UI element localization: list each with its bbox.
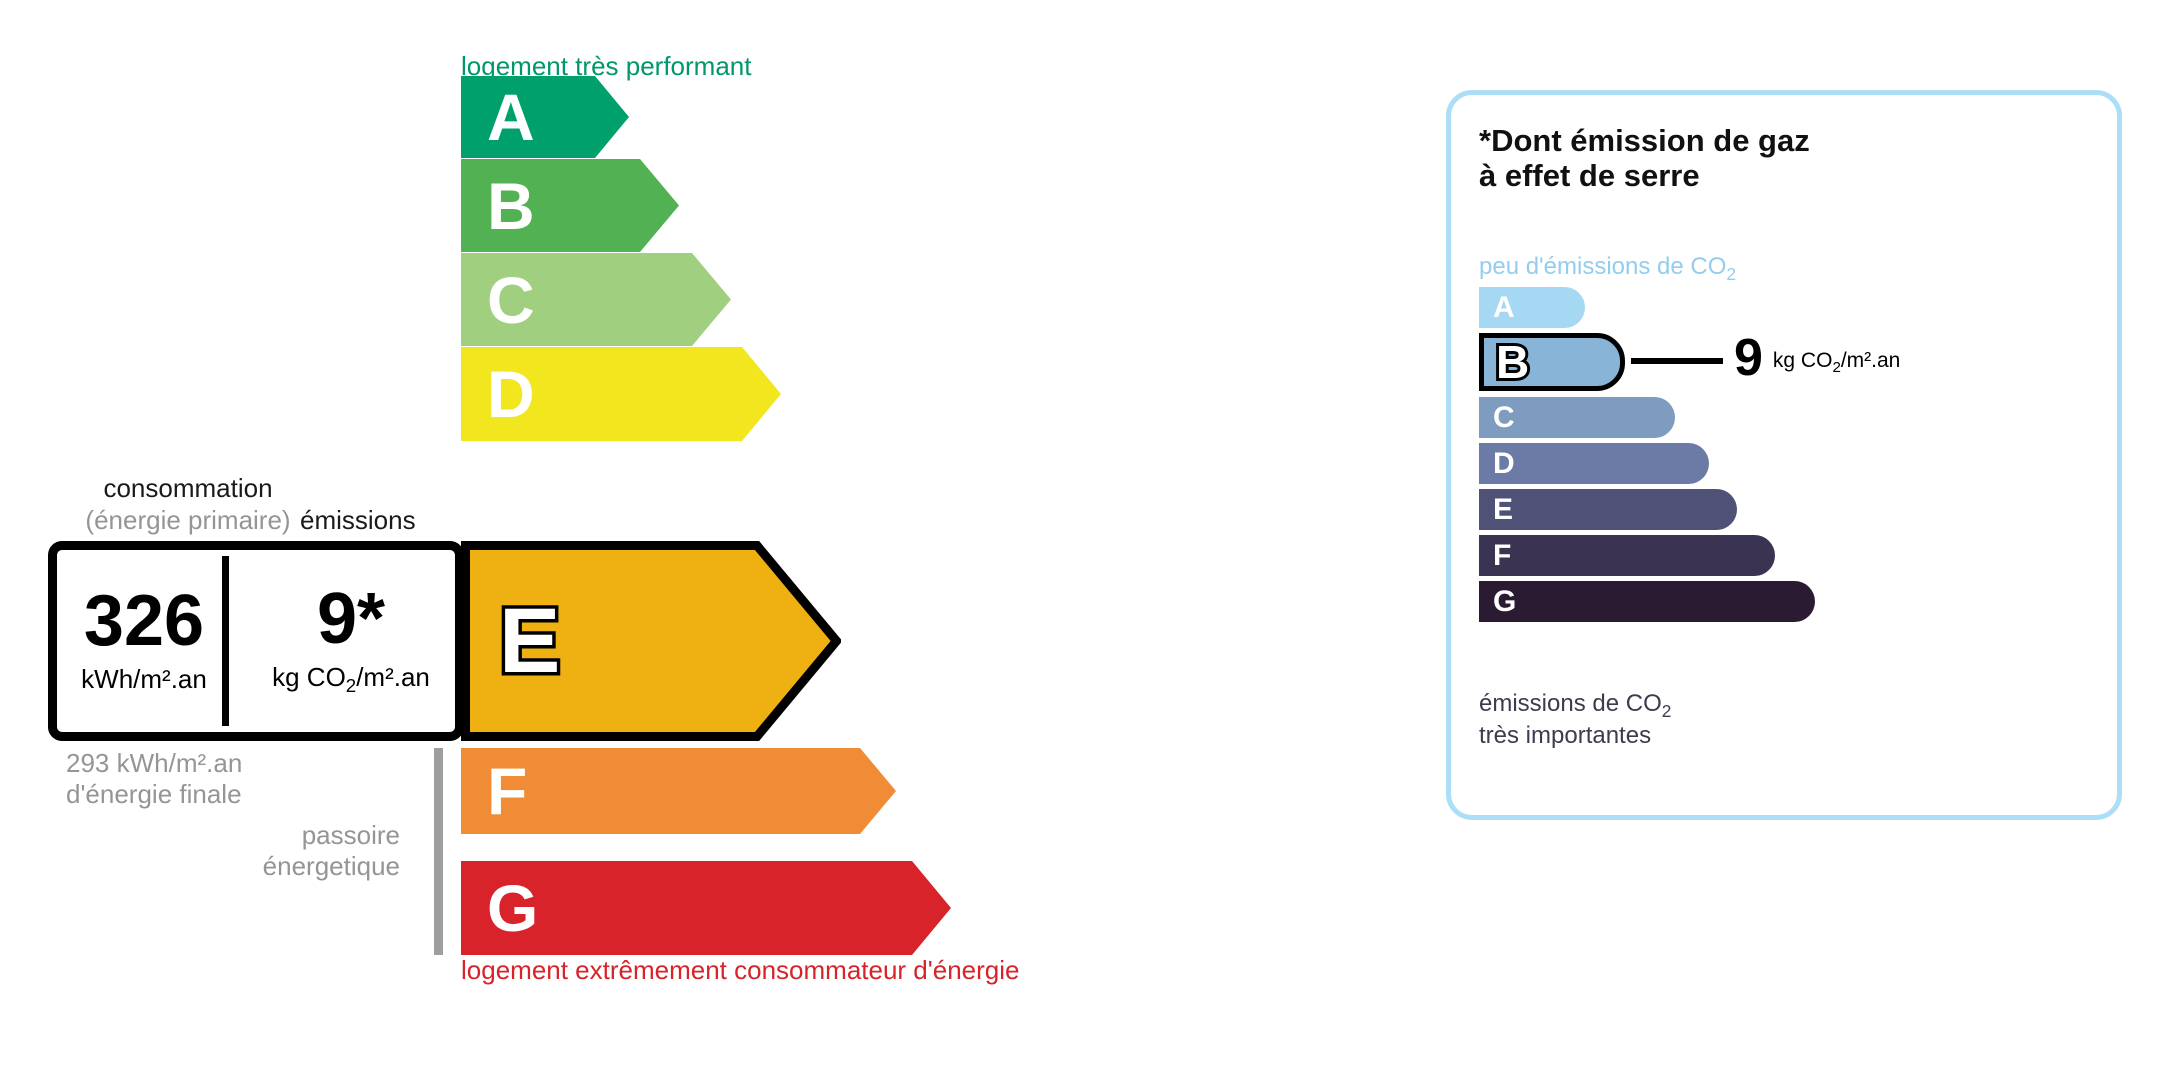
co2-bar-e: E (1479, 489, 1737, 530)
co2-bar-letter-a: A (1493, 293, 1515, 323)
energy-band-d: D (461, 347, 781, 441)
energy-band-b: B (461, 159, 679, 252)
co2-callout-unit: kg CO2/m².an (1773, 349, 1900, 376)
energy-band-arrow-g (461, 861, 951, 955)
energy-band-c: C (461, 253, 731, 346)
label-consommation: consommation (63, 473, 313, 504)
energy-band-arrow-f (461, 748, 896, 834)
co2-bar-letter-g: G (1493, 587, 1516, 617)
chart-bottom-caption: logement extrêmement consommateur d'éner… (461, 955, 1019, 986)
energy-band-arrow-b (461, 159, 679, 252)
co2-value-callout: 9 kg CO2/m².an (1734, 335, 1900, 382)
co2-value-unit: kg CO2/m².an (272, 662, 430, 697)
co2-bar-letter-e: E (1493, 495, 1513, 525)
passoire-divider-bar (434, 748, 443, 955)
energy-performance-chart: logement très performant ABCDEFG consomm… (0, 0, 1330, 1079)
co2-value-cell: 9* kg CO2/m².an (238, 550, 464, 732)
co2-bar-letter-d: D (1493, 449, 1515, 479)
energy-band-arrow-e (461, 541, 841, 741)
energy-band-arrow-c (461, 253, 731, 346)
value-box-divider (222, 556, 229, 726)
label-energie-finale: 293 kWh/m².an d'énergie finale (66, 748, 242, 809)
energy-band-f: F (461, 748, 896, 834)
co2-panel-title: *Dont émission de gaz à effet de serre (1479, 123, 1810, 194)
energy-band-e: E (461, 541, 841, 741)
co2-leader-line (1631, 358, 1723, 364)
label-energie-primaire: (énergie primaire) (48, 505, 328, 536)
energy-value-number: 326 (84, 587, 204, 655)
co2-bar-g: G (1479, 581, 1815, 622)
co2-bar-c: C (1479, 397, 1675, 438)
energy-band-a: A (461, 76, 629, 158)
co2-callout-number: 9 (1734, 335, 1763, 382)
co2-bar-b: B (1479, 333, 1625, 391)
energy-value-cell: 326 kWh/m².an (57, 550, 231, 732)
co2-bar-a: A (1479, 287, 1585, 328)
co2-value-number: 9* (317, 585, 385, 653)
energy-band-arrow-a (461, 76, 629, 158)
co2-bar-d: D (1479, 443, 1709, 484)
co2-top-caption: peu d'émissions de CO2 (1479, 253, 1736, 285)
co2-bar-letter-f: F (1493, 541, 1511, 571)
value-box: 326 kWh/m².an 9* kg CO2/m².an (48, 541, 464, 741)
co2-emissions-panel: *Dont émission de gaz à effet de serre p… (1446, 90, 2122, 820)
co2-bar-letter-b: B (1496, 339, 1529, 385)
label-emissions: émissions (300, 505, 416, 536)
label-passoire-energetique: passoire énergetique (200, 820, 400, 881)
co2-bar-f: F (1479, 535, 1775, 576)
co2-bottom-caption: émissions de CO2 très importantes (1479, 690, 1671, 750)
energy-band-arrow-d (461, 347, 781, 441)
energy-band-g: G (461, 861, 951, 955)
co2-bar-letter-c: C (1493, 403, 1515, 433)
energy-value-unit: kWh/m².an (81, 664, 207, 695)
